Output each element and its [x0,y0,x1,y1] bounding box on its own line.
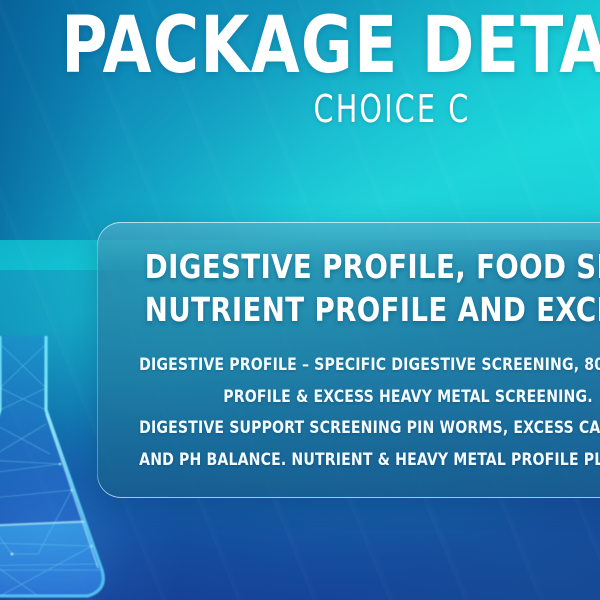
card-body-line-4: AND PH BALANCE. NUTRIENT & HEAVY METAL P… [139,447,600,474]
card-body-line-2: PROFILE & EXCESS HEAVY METAL SCREENING. [139,384,600,411]
card-body-line-3: DIGESTIVE SUPPORT SCREENING PIN WORMS, E… [139,415,600,442]
card-heading-line-1: DIGESTIVE PROFILE, FOOD SENSITIVITY, [145,246,600,289]
card-body: DIGESTIVE PROFILE – SPECIFIC DIGESTIVE S… [139,352,600,474]
page-title: PACKAGE DETAILS [39,8,600,84]
card-body-line-1: DIGESTIVE PROFILE – SPECIFIC DIGESTIVE S… [139,352,600,379]
page-subtitle: CHOICE C [63,90,600,128]
card-content: DIGESTIVE PROFILE, FOOD SENSITIVITY, NUT… [97,222,600,492]
card-heading-line-2: NUTRIENT PROFILE AND EXCESS METALS [145,289,600,332]
promo-banner: PACKAGE DETAILS CHOICE C DIGESTIVE PROFI… [0,0,600,600]
banner-header: PACKAGE DETAILS CHOICE C [0,8,600,128]
card-heading: DIGESTIVE PROFILE, FOOD SENSITIVITY, NUT… [145,246,600,332]
package-details-card: DIGESTIVE PROFILE, FOOD SENSITIVITY, NUT… [97,222,600,498]
